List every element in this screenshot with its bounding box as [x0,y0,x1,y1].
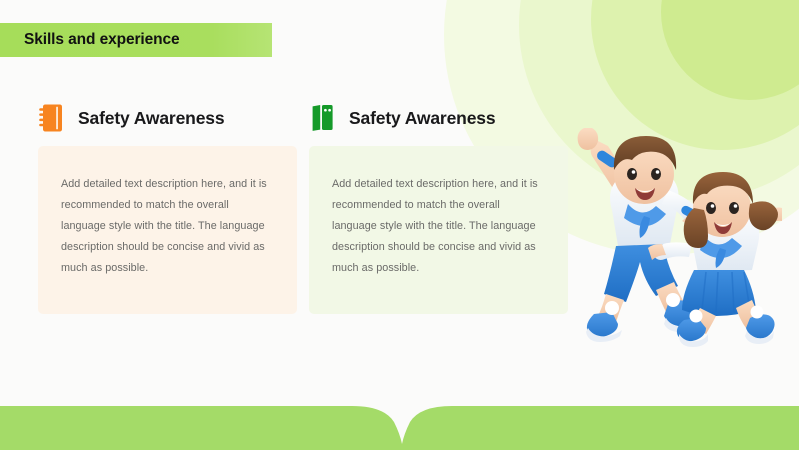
feature-body-1: Add detailed text description here, and … [61,174,275,279]
feature-column-2: Safety Awareness Add detailed text descr… [309,96,568,140]
feature-header-1: Safety Awareness [38,96,297,140]
feature-title-1: Safety Awareness [78,108,224,129]
slide-canvas: Skills and experience Safety Awareness A… [0,0,799,450]
arc-second [591,0,799,150]
feature-card-1: Add detailed text description here, and … [38,146,297,314]
arc-inner [661,0,799,100]
feature-card-2: Add detailed text description here, and … [309,146,568,314]
bottom-green-band [0,406,799,450]
orange-notebook-icon [38,103,64,133]
green-open-book-icon [309,103,335,133]
feature-header-2: Safety Awareness [309,96,568,140]
section-title-bar: Skills and experience [0,23,272,57]
kids-illustration [540,112,799,350]
feature-column-1: Safety Awareness Add detailed text descr… [38,96,297,140]
feature-title-2: Safety Awareness [349,108,495,129]
feature-body-2: Add detailed text description here, and … [332,174,546,279]
page-title: Skills and experience [24,31,180,49]
